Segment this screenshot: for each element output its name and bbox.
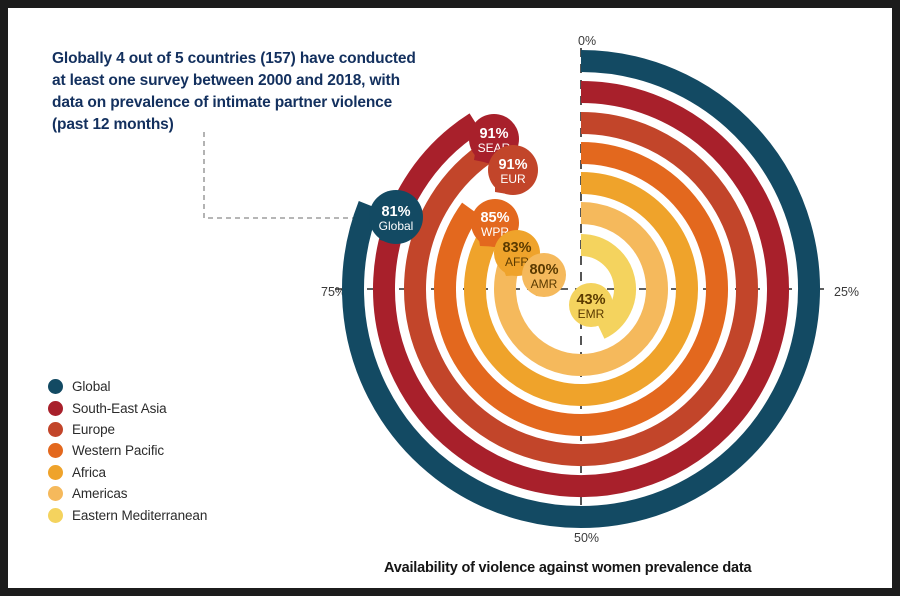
callout-region-code: AMR	[531, 277, 558, 291]
callout-bubble-emr[interactable]: 43%EMR	[569, 283, 613, 327]
callout-percent: 80%	[529, 262, 558, 278]
callout-region-code: EUR	[500, 172, 526, 186]
callout-bubble-eur[interactable]: 91%EUR	[488, 145, 538, 195]
chart-page: Globally 4 out of 5 countries (157) have…	[0, 0, 900, 596]
callout-percent: 91%	[479, 126, 508, 142]
callout-bubble-amr[interactable]: 80%AMR	[522, 253, 566, 297]
callout-percent: 83%	[502, 240, 531, 256]
callout-region-code: Global	[379, 219, 414, 233]
callout-percent: 85%	[480, 210, 509, 226]
callout-connector-line	[204, 132, 376, 218]
radial-bar-chart: 91%SEAR91%EUR85%WPR83%AFR80%AMR43%EMR81%…	[8, 8, 892, 588]
callout-percent: 43%	[576, 292, 605, 308]
callout-region-code: EMR	[578, 307, 605, 321]
callout-percent: 81%	[381, 204, 410, 220]
callout-percent: 91%	[498, 157, 527, 173]
callout-bubble-global[interactable]: 81%Global	[369, 190, 423, 244]
